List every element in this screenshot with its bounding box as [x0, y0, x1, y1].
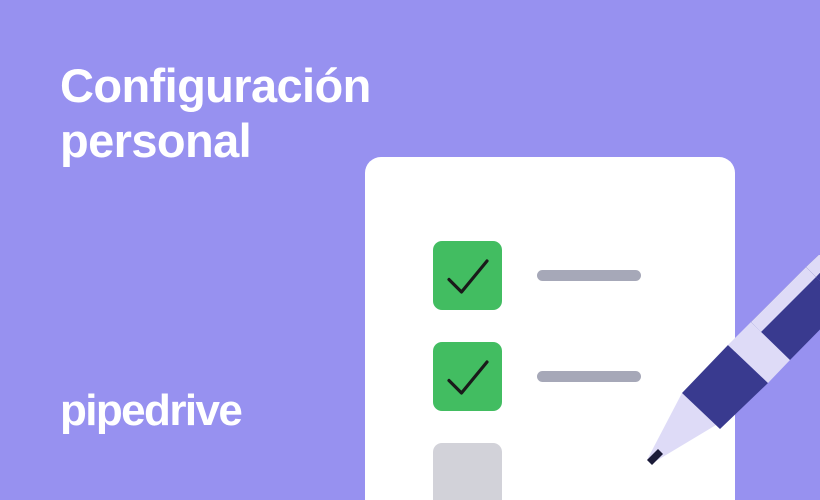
label-placeholder-line [537, 371, 641, 382]
page-title: Configuración personal [60, 58, 400, 168]
checkmark-icon [433, 342, 502, 411]
checklist-row [365, 241, 735, 310]
checkbox-unchecked-3[interactable] [433, 443, 502, 500]
checklist-row [365, 443, 735, 500]
checkmark-icon [433, 241, 502, 310]
checkbox-checked-2[interactable] [433, 342, 502, 411]
pipedrive-logo-wordmark: pipedrive [60, 388, 241, 434]
checkbox-checked-1[interactable] [433, 241, 502, 310]
promo-banner: Configuración personal pipedrive [0, 0, 820, 500]
checklist-card [365, 157, 735, 500]
checklist-row [365, 342, 735, 411]
label-placeholder-line [537, 270, 641, 281]
